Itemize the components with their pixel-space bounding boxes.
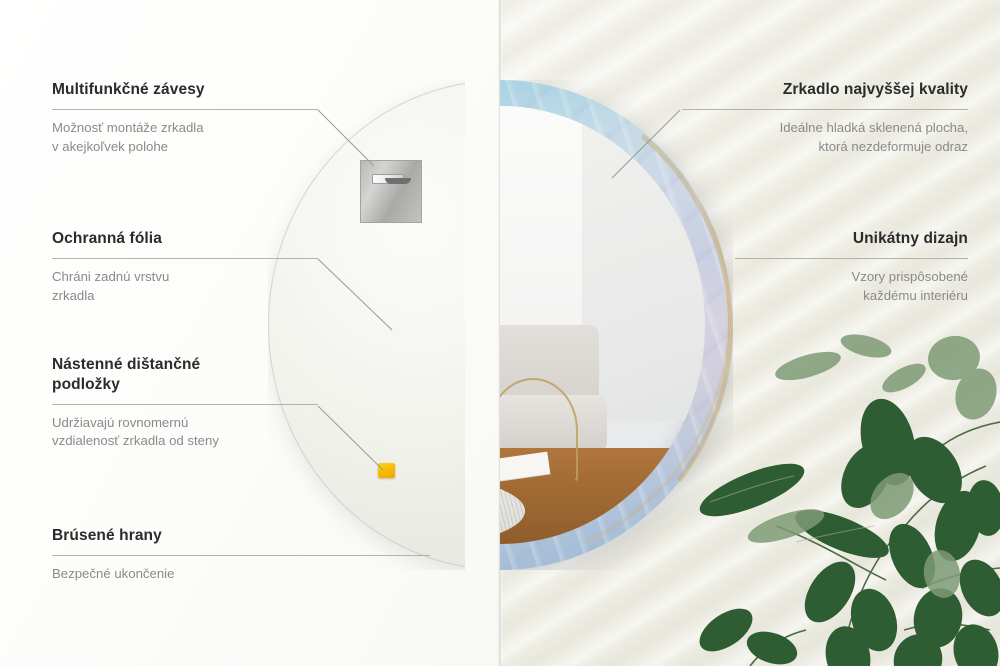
callout-body-line1: Možnosť montáže zrkadla: [52, 119, 318, 138]
leader-multifunkcne-zavesy: [318, 110, 374, 166]
callout-body-line2: vzdialenosť zrkadla od steny: [52, 432, 318, 451]
callout-body-line2: ktorá nezdeformuje odraz: [682, 138, 968, 157]
callout-brusene-hrany: Brúsené hrany Bezpečné ukončenie: [52, 526, 430, 584]
callout-body-line2: v akejkoľvek polohe: [52, 138, 318, 157]
callout-title: Unikátny dizajn: [735, 229, 968, 249]
callout-title: Multifunkčné závesy: [52, 80, 318, 100]
callout-body-line1: Vzory prispôsobené: [735, 268, 968, 287]
callout-title: Zrkadlo najvyššej kvality: [682, 80, 968, 100]
callout-ochranna-folia: Ochranná fólia Chráni zadnú vrstvu zrkad…: [52, 229, 318, 305]
callout-rule: [52, 404, 318, 405]
infographic-canvas: Multifunkčné závesy Možnosť montáže zrka…: [0, 0, 1000, 666]
callout-rule: [52, 258, 318, 259]
callout-zrkadlo-najvyssej-kvality: Zrkadlo najvyššej kvality Ideálne hladká…: [682, 80, 968, 156]
callout-rule: [52, 555, 430, 556]
callout-body-line2: zrkadla: [52, 287, 318, 306]
leader-ochranna-folia: [318, 259, 392, 330]
callout-body-line2: každému interiéru: [735, 287, 968, 306]
leader-nastenne-podlozky: [318, 406, 383, 470]
callout-nastenne-distancne-podlozky: Nástenné dištančné podložky Udržiavajú r…: [52, 355, 318, 451]
callout-title: Brúsené hrany: [52, 526, 430, 546]
callout-title-line2: podložky: [52, 375, 318, 395]
leader-zrkadlo-kvality: [612, 110, 680, 178]
callout-title: Ochranná fólia: [52, 229, 318, 249]
callout-body-line1: Chráni zadnú vrstvu: [52, 268, 318, 287]
callout-multifunkcne-zavesy: Multifunkčné závesy Možnosť montáže zrka…: [52, 80, 318, 156]
callout-title: Nástenné dištančné: [52, 355, 318, 375]
callout-body-line1: Udržiavajú rovnomernú: [52, 414, 318, 433]
callout-rule: [52, 109, 318, 110]
callout-rule: [735, 258, 968, 259]
callout-body-line1: Bezpečné ukončenie: [52, 565, 430, 584]
callout-rule: [682, 109, 968, 110]
callout-body-line1: Ideálne hladká sklenená plocha,: [682, 119, 968, 138]
callout-unikatny-dizajn: Unikátny dizajn Vzory prispôsobené každé…: [735, 229, 968, 305]
